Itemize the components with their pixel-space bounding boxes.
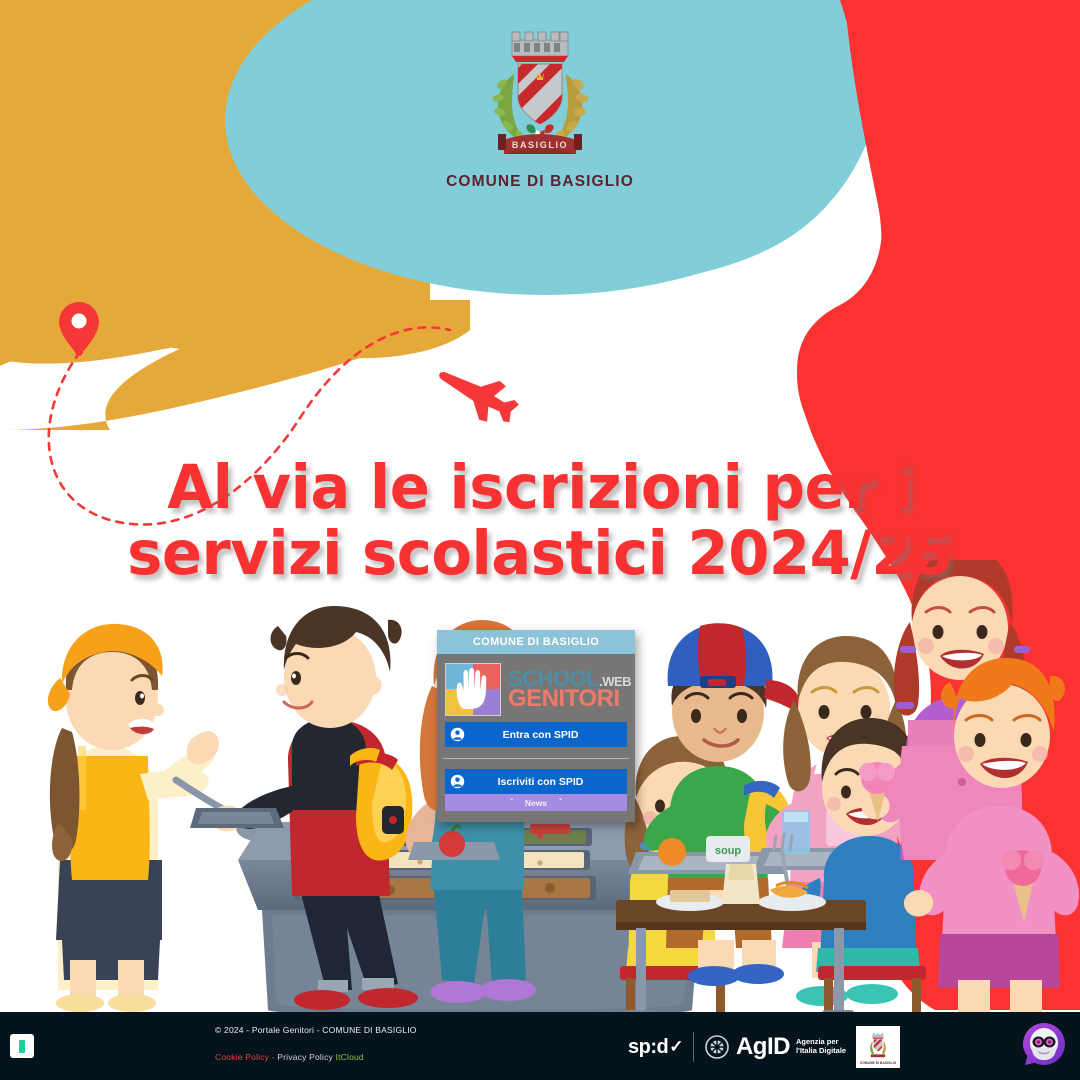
crest-ribbon: BASIGLIO (498, 134, 582, 154)
user-circle-icon (445, 769, 470, 794)
chevron-down-icon-right: ˇ (559, 798, 562, 807)
privacy-policy-link[interactable]: Privacy Policy (277, 1052, 335, 1062)
school-web-portal-card[interactable]: COMUNE DI BASIGLIO SCHOOL.WEB (437, 630, 635, 822)
portal-card-header: COMUNE DI BASIGLIO (437, 630, 635, 654)
mural-crown (512, 32, 568, 62)
school-web-genitori-logo: SCHOOL.WEB GENITORI (445, 660, 629, 718)
headline-line-2: servizi scolastici 2024/25 (16, 521, 1064, 587)
headline-line-1: Al via le iscrizioni per i (167, 452, 912, 523)
logo-wordmark: SCHOOL.WEB GENITORI (508, 668, 631, 711)
button-divider (443, 758, 629, 759)
basiglio-mini-crest-icon (863, 1030, 893, 1060)
basiglio-coat-of-arms-icon: BASIGLIO (470, 18, 610, 168)
white-hand-glyph (453, 667, 493, 711)
shield (508, 54, 572, 128)
comune-mini-caption: COMUNE DI BASIGLIO (860, 1061, 896, 1065)
news-label: News (525, 798, 547, 808)
cookie-policy-link[interactable]: Cookie Policy (215, 1052, 269, 1062)
portal-card-body: SCHOOL.WEB GENITORI Entra con SPID (437, 654, 635, 822)
spid-logo[interactable]: sp:d✓ (628, 1036, 683, 1059)
page-title: Al via le iscrizioni per i servizi scola… (16, 455, 1064, 587)
footer-links: Cookie Policy - Privacy Policy ItCloud (215, 1052, 417, 1062)
crest-caption: COMUNE DI BASIGLIO (446, 173, 634, 191)
entra-con-spid-button[interactable]: Entra con SPID (445, 722, 627, 747)
privacy-consent-icon[interactable] (10, 1034, 34, 1058)
agid-wordmark: AgID (736, 1033, 790, 1061)
user-circle-icon (445, 722, 470, 747)
entra-con-spid-label: Entra con SPID (470, 729, 627, 741)
chatbot-avatar-icon[interactable] (1022, 1022, 1066, 1066)
footer-copyright: © 2024 - Portale Genitori - COMUNE DI BA… (215, 1025, 417, 1035)
site-footer: © 2024 - Portale Genitori - COMUNE DI BA… (0, 1012, 1080, 1080)
footer-logo-strip: sp:d✓ AgID Agenzia per l'Italia Digitale (628, 1026, 900, 1068)
crest-ribbon-text: BASIGLIO (512, 140, 568, 150)
agid-subtitle: Agenzia per l'Italia Digitale (796, 1038, 846, 1055)
soup-label: soup (715, 845, 742, 857)
logo-divider (693, 1032, 694, 1062)
consent-bar-glyph (19, 1040, 25, 1053)
itcloud-link[interactable]: ItCloud (336, 1052, 364, 1062)
agid-logo[interactable]: AgID Agenzia per l'Italia Digitale (704, 1033, 846, 1061)
footer-text-block: © 2024 - Portale Genitori - COMUNE DI BA… (215, 1025, 417, 1062)
news-bar[interactable]: ˇ News ˇ (445, 794, 627, 811)
agid-subtitle-line2: l'Italia Digitale (796, 1047, 846, 1056)
spid-check-icon: ✓ (669, 1037, 683, 1057)
spid-wordmark: sp:d (628, 1036, 668, 1059)
poster-canvas: BASIGLIO COMUNE DI BASIGLIO Al via le is… (0, 0, 1080, 1080)
municipal-crest-block: BASIGLIO COMUNE DI BASIGLIO (0, 18, 1080, 191)
airplane-icon (429, 354, 524, 433)
iscriviti-con-spid-label: Iscriviti con SPID (470, 776, 627, 788)
italian-republic-emblem-icon (704, 1033, 730, 1061)
logo-word-genitori: GENITORI (508, 687, 631, 711)
hand-logo-icon (445, 663, 501, 716)
iscriviti-con-spid-button[interactable]: Iscriviti con SPID (445, 769, 627, 794)
chevron-down-icon-left: ˇ (510, 798, 513, 807)
comune-mini-crest[interactable]: COMUNE DI BASIGLIO (856, 1026, 900, 1068)
